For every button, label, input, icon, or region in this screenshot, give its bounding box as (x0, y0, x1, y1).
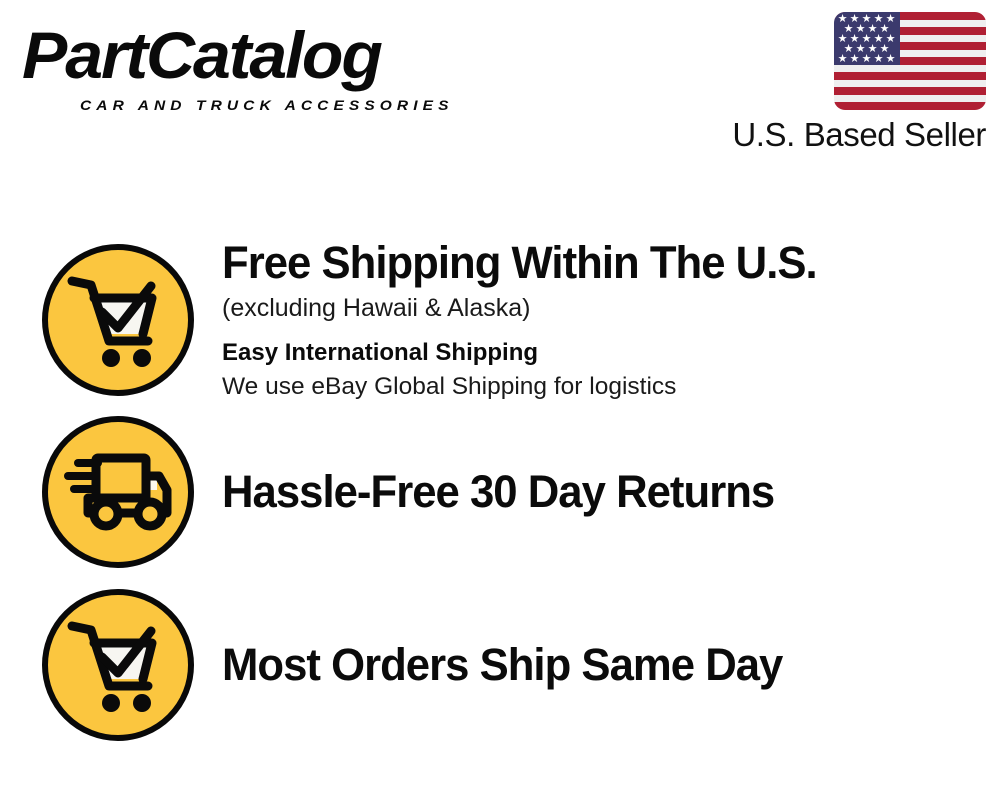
feature-subheading-strong: Easy International Shipping (222, 337, 980, 369)
feature-subtext: (excluding Hawaii & Alaska) (222, 291, 980, 325)
feature-text-block: Hassle-Free 30 Day Returns (222, 467, 1000, 517)
brand-tagline: CAR AND TRUCK ACCESSORIES (80, 98, 454, 115)
shopping-cart-check-icon (42, 589, 194, 741)
seller-banner: PartCatalog CAR AND TRUCK ACCESSORIES ★ (0, 0, 1000, 800)
flag-canton: ★ ★ ★ ★ ★ ★ ★ ★ ★ ★ ★ ★ ★ ★ ★ ★ ★ (834, 12, 900, 65)
feature-heading: Hassle-Free 30 Day Returns (222, 467, 957, 517)
feature-subnote: We use eBay Global Shipping for logistic… (222, 370, 980, 403)
flag-stripe (834, 87, 986, 95)
feature-row-same-day-ship: Most Orders Ship Same Day (0, 585, 1000, 745)
feature-heading: Most Orders Ship Same Day (222, 640, 957, 690)
shopping-cart-check-icon (42, 244, 194, 396)
feature-row-returns: Hassle-Free 30 Day Returns (0, 412, 1000, 572)
brand-logo: PartCatalog CAR AND TRUCK ACCESSORIES (22, 20, 492, 120)
brand-wordmark: PartCatalog (22, 20, 506, 90)
flag-stripe (834, 102, 986, 110)
flag-stripe (834, 65, 986, 73)
us-flag-icon: ★ ★ ★ ★ ★ ★ ★ ★ ★ ★ ★ ★ ★ ★ ★ ★ ★ (834, 12, 986, 110)
us-based-seller-block: ★ ★ ★ ★ ★ ★ ★ ★ ★ ★ ★ ★ ★ ★ ★ ★ ★ (716, 12, 986, 154)
feature-text-block: Free Shipping Within The U.S. (excluding… (222, 238, 1000, 403)
flag-stripe (834, 80, 986, 88)
feature-text-block: Most Orders Ship Same Day (222, 640, 1000, 690)
flag-stripe (834, 72, 986, 80)
flag-stripe (834, 95, 986, 103)
us-based-seller-label: U.S. Based Seller (716, 116, 986, 154)
feature-heading: Free Shipping Within The U.S. (222, 238, 957, 288)
banner-header: PartCatalog CAR AND TRUCK ACCESSORIES ★ (0, 0, 1000, 180)
feature-row-free-shipping: Free Shipping Within The U.S. (excluding… (0, 240, 1000, 400)
delivery-truck-icon (42, 416, 194, 568)
